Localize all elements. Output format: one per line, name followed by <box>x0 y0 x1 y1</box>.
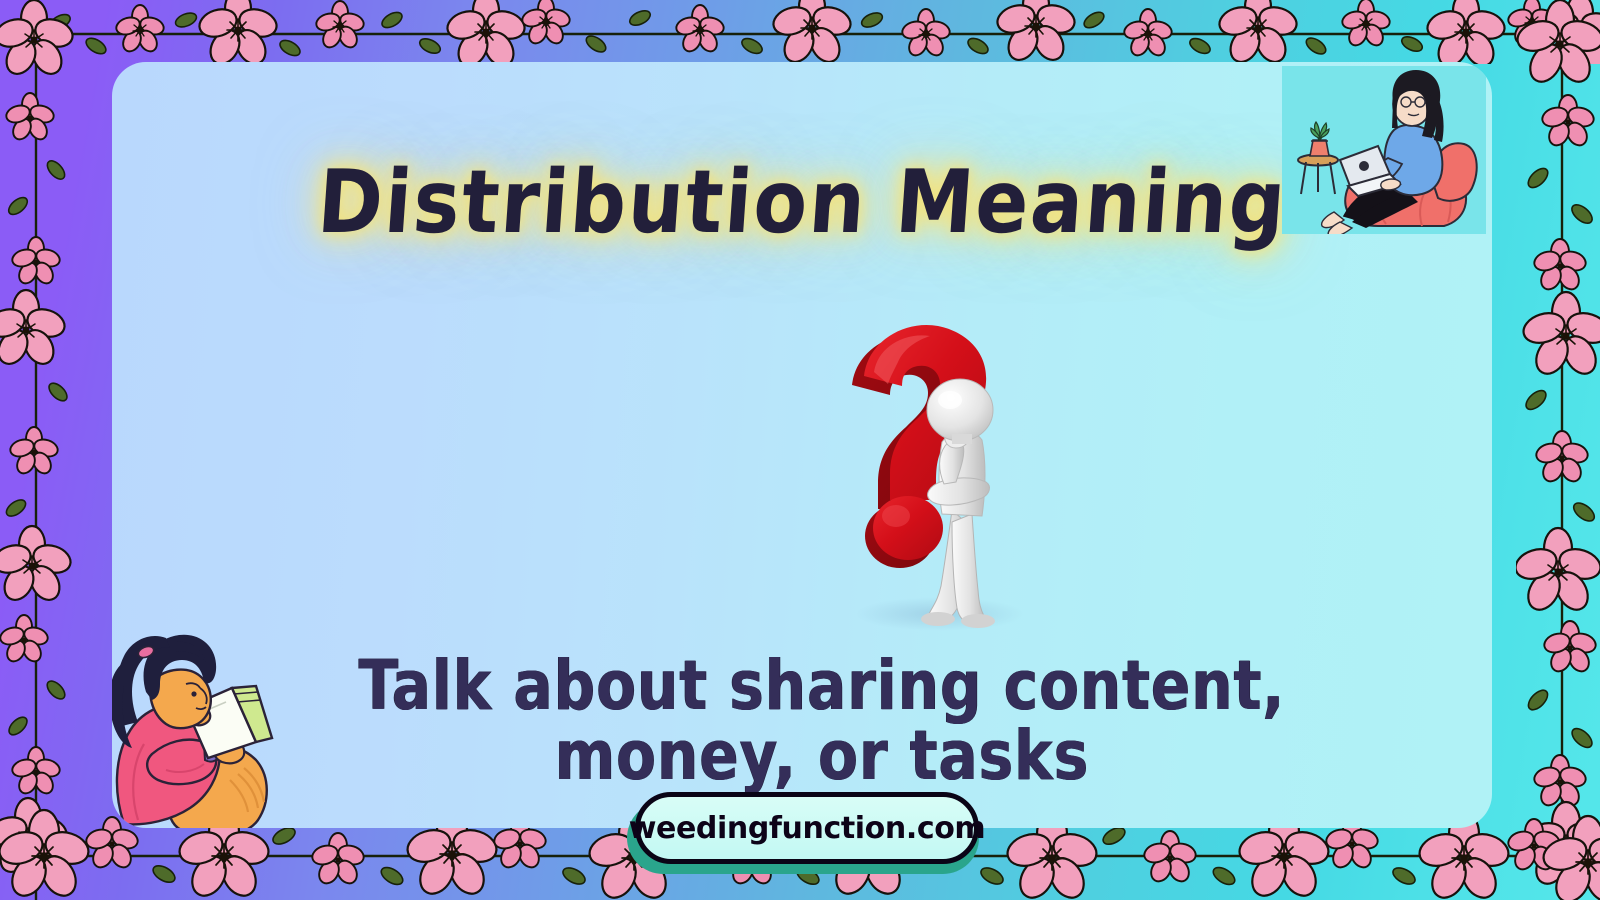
woman-on-beanbag-with-laptop-illustration <box>1282 66 1486 234</box>
content-card: Distribution Meaning <box>112 62 1492 828</box>
website-badge[interactable]: weedingfunction.com <box>627 790 987 876</box>
page-title: Distribution Meaning <box>314 153 1290 254</box>
floral-border-right <box>1516 0 1600 900</box>
poster-canvas: Distribution Meaning <box>0 0 1600 900</box>
subtitle-text: Talk about sharing content, money, or ta… <box>302 651 1342 791</box>
badge-pill[interactable]: weedingfunction.com <box>635 792 979 864</box>
badge-text: weedingfunction.com <box>629 811 986 846</box>
floral-border-left <box>0 0 74 900</box>
question-mark-thinking-figure-illustration <box>812 314 1062 634</box>
floral-border-top <box>0 0 1600 64</box>
subtitle-container: Talk about sharing content, money, or ta… <box>302 662 1342 780</box>
girl-reading-book-illustration <box>112 604 300 828</box>
